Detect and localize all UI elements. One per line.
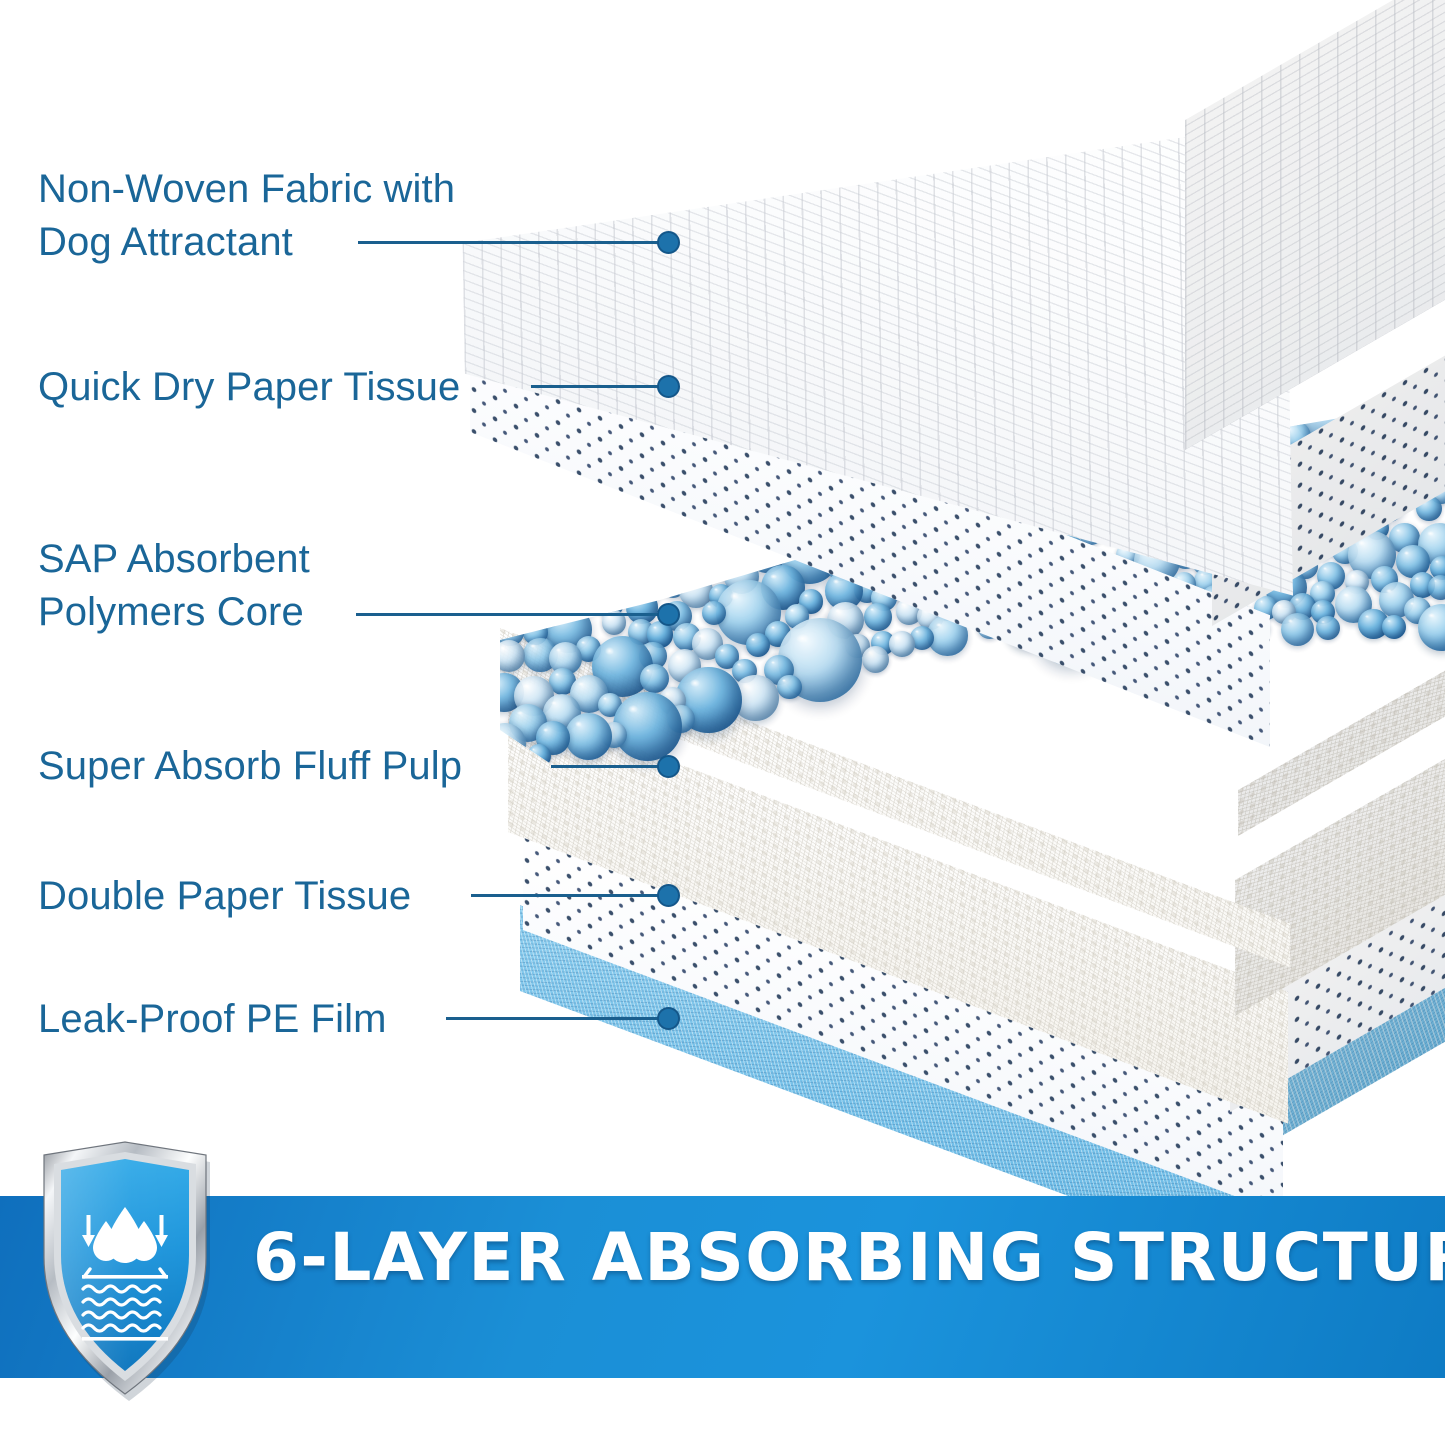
surface-line-top xyxy=(82,1275,168,1279)
leader-line-non-woven-fabric xyxy=(358,241,670,244)
leader-line-super-absorb-fluff-pulp xyxy=(551,765,670,768)
leader-line-quick-dry-paper-tissue xyxy=(531,385,670,388)
leader-dot-super-absorb-fluff-pulp xyxy=(657,755,680,778)
callout-label-non-woven-fabric: Non-Woven Fabric with Dog Attractant xyxy=(38,163,558,269)
leader-dot-leak-proof-pe-film xyxy=(657,1007,680,1030)
waterproof-absorption-shield-icon xyxy=(30,1139,220,1401)
leader-line-double-paper-tissue xyxy=(471,894,670,897)
leader-dot-non-woven-fabric xyxy=(657,231,680,254)
callout-label-sap-absorbent-polymers-core: SAP Absorbent Polymers Core xyxy=(38,533,508,639)
leader-dot-quick-dry-paper-tissue xyxy=(657,375,680,398)
callout-label-quick-dry-paper-tissue: Quick Dry Paper Tissue xyxy=(38,361,598,414)
surface-line-bottom xyxy=(82,1337,168,1341)
leader-line-leak-proof-pe-film xyxy=(446,1017,670,1020)
leader-line-sap-absorbent-polymers-core xyxy=(356,613,670,616)
leader-dot-sap-absorbent-polymers-core xyxy=(657,603,680,626)
callout-label-super-absorb-fluff-pulp: Super Absorb Fluff Pulp xyxy=(38,740,598,793)
infographic-canvas: Non-Woven Fabric with Dog Attractant Qui… xyxy=(0,0,1445,1440)
banner-headline: 6-LAYER ABSORBING STRUCTURE xyxy=(253,1219,1445,1296)
leader-dot-double-paper-tissue xyxy=(657,884,680,907)
